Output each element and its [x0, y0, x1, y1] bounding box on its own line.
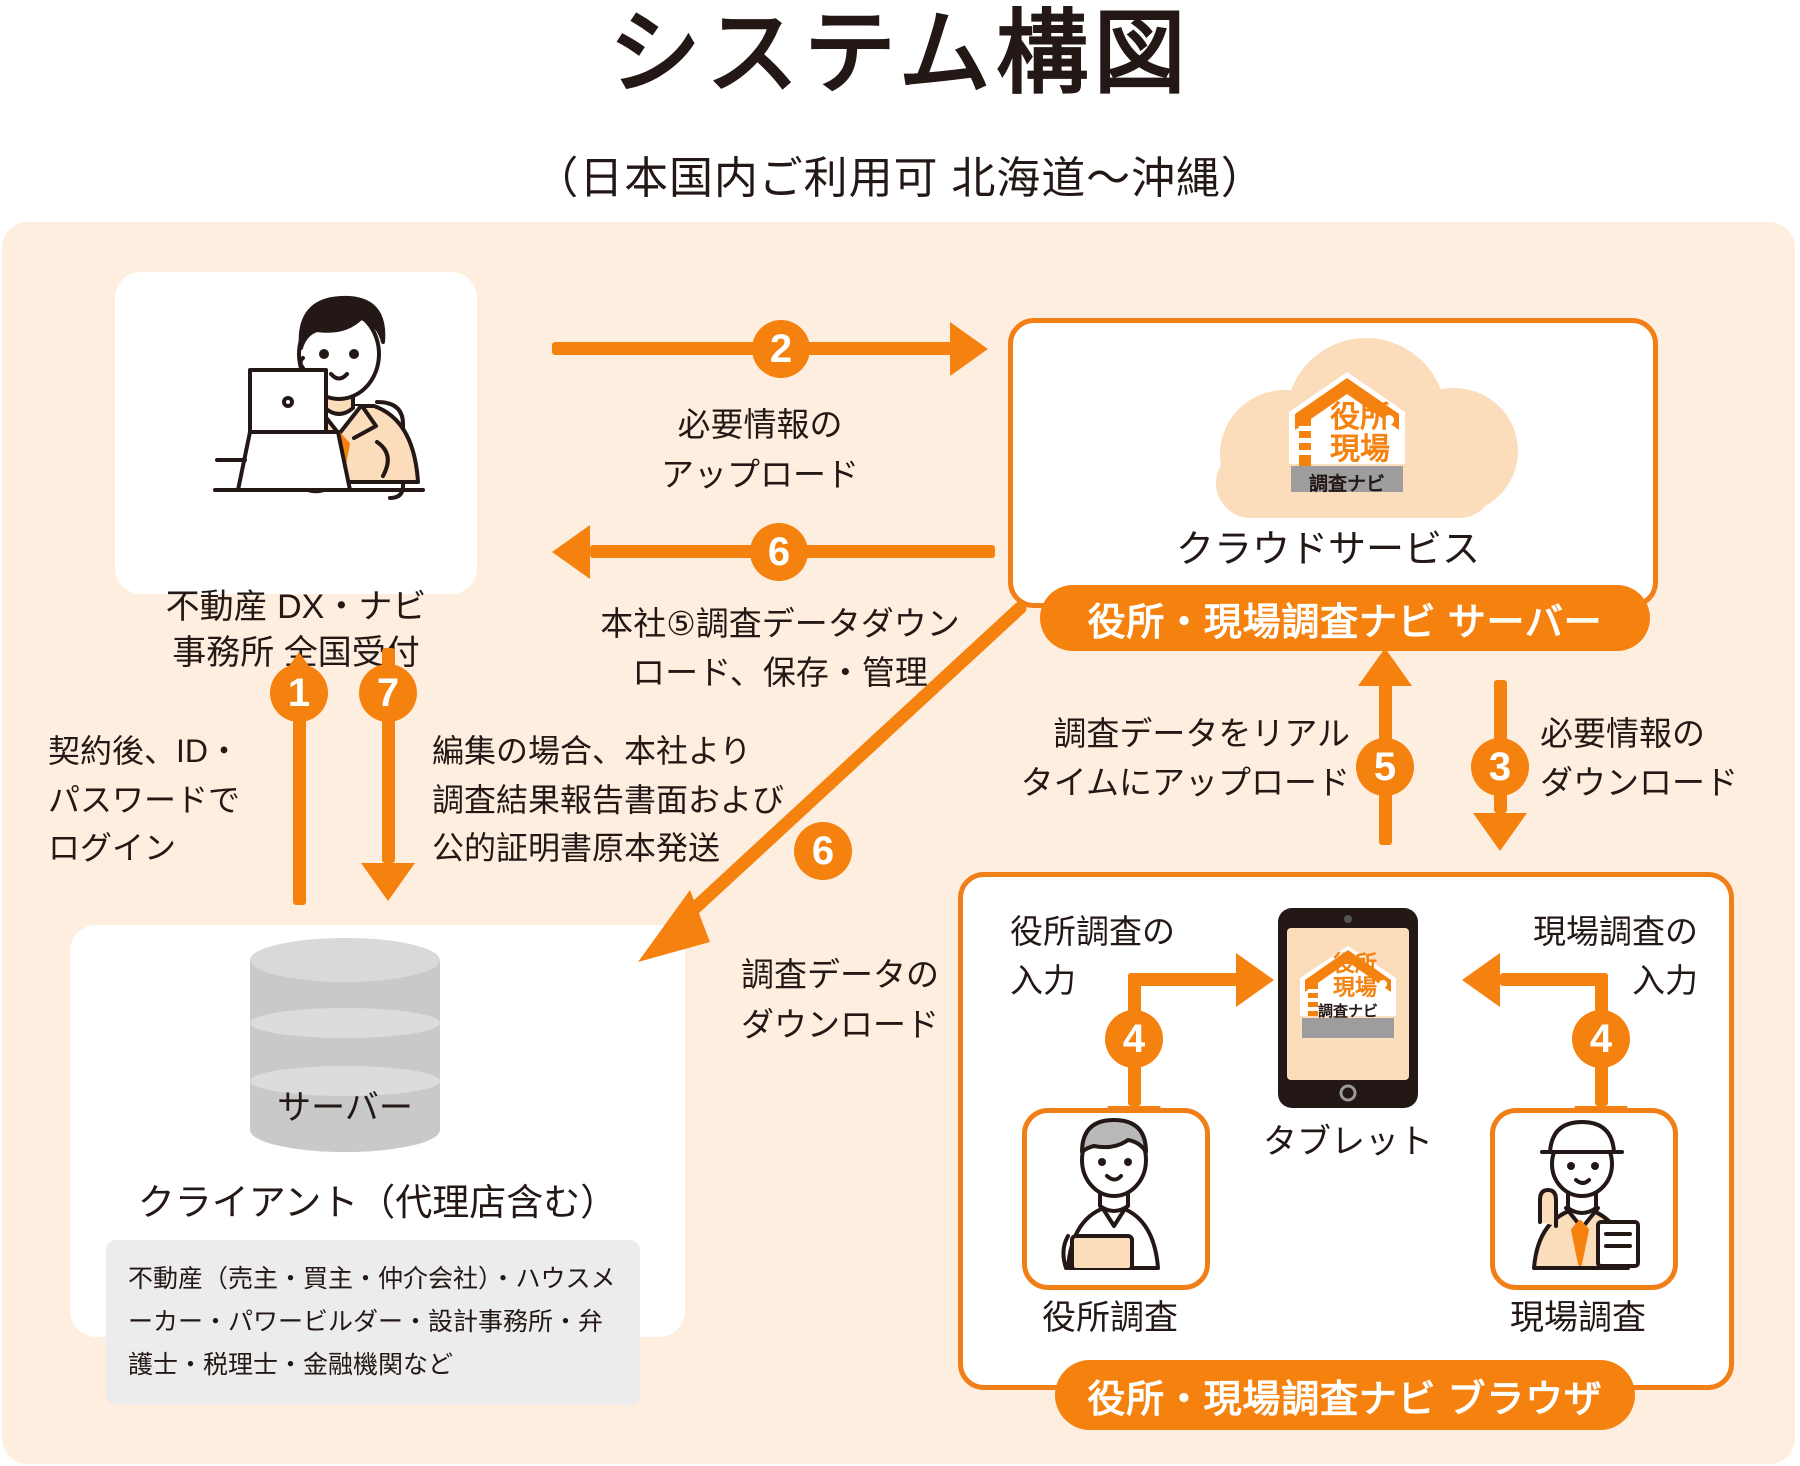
- arrow4-left-hbar: [1128, 973, 1238, 986]
- businessman-laptop-icon: [155, 282, 445, 512]
- step-badge-4-right: 4: [1572, 1010, 1630, 1068]
- arrow4-left-head-icon: [1236, 953, 1274, 1007]
- clerk-person-icon: [1038, 1118, 1184, 1270]
- tablet-logo-text-chousanavi: 調査ナビ: [1302, 1000, 1394, 1021]
- arrow1-bar: [293, 690, 306, 905]
- step-badge-7: 7: [359, 664, 417, 722]
- yakusho-person-caption: 役所調査: [1000, 1296, 1220, 1342]
- step-badge-5: 5: [1356, 738, 1414, 796]
- logo-text-genba: 現場: [1317, 424, 1403, 468]
- page-title: システム構図: [0, 8, 1800, 100]
- arrow7-head-icon: [361, 863, 415, 901]
- step-badge-2: 2: [752, 320, 810, 378]
- arrow3-head-icon: [1473, 813, 1527, 851]
- client-note: 不動産（売主・買主・仲介会社）・ハウスメーカー・パワービルダー・設計事務所・弁護…: [106, 1240, 640, 1405]
- arrow1-label: 契約後、ID・ パスワードで ログイン: [48, 727, 263, 873]
- page-header: システム構図 （日本国内ご利用可 北海道〜沖縄）: [0, 0, 1800, 206]
- database-server-label: サーバー: [250, 1080, 440, 1129]
- page-subtitle: （日本国内ご利用可 北海道〜沖縄）: [0, 142, 1800, 206]
- cloud-service-caption: クラウドサービス: [1008, 525, 1648, 576]
- step-badge-6-diagonal: 6: [794, 822, 852, 880]
- arrow5-label: 調査データをリアル タイムにアップロード: [1010, 710, 1350, 808]
- arrow2-label: 必要情報の アップロード: [590, 400, 930, 499]
- step-badge-4-left: 4: [1105, 1010, 1163, 1068]
- server-badge: 役所・現場調査ナビ サーバー: [1040, 585, 1650, 651]
- arrow2-head-icon: [950, 322, 988, 376]
- arrow5-head-icon: [1358, 648, 1412, 686]
- tablet-caption: タブレット: [1258, 1120, 1438, 1166]
- arrow3-label: 必要情報の ダウンロード: [1540, 710, 1790, 808]
- step-badge-3: 3: [1471, 738, 1529, 796]
- arrow6-diagonal-label: 調査データの ダウンロード: [690, 950, 990, 1049]
- logo-text-chousanavi: 調査ナビ: [1291, 469, 1403, 496]
- client-caption: クライアント（代理店含む）: [70, 1178, 685, 1228]
- arrow6-back-head-icon: [552, 525, 590, 579]
- step-badge-6-back: 6: [750, 523, 808, 581]
- tablet-logo-text-genba: 現場: [1320, 970, 1390, 1002]
- arrow4-right-hbar: [1500, 973, 1608, 986]
- arrow4-right-head-icon: [1462, 953, 1500, 1007]
- office-caption-line1: 不動産 DX・ナビ: [115, 585, 477, 631]
- genba-person-caption: 現場調査: [1468, 1296, 1688, 1342]
- step-badge-1: 1: [270, 664, 328, 722]
- worker-person-icon: [1506, 1118, 1652, 1270]
- browser-badge-label: 役所・現場調査ナビ ブラウザ: [1087, 1368, 1602, 1423]
- browser-badge: 役所・現場調査ナビ ブラウザ: [1055, 1360, 1635, 1430]
- server-badge-label: 役所・現場調査ナビ サーバー: [1088, 591, 1603, 646]
